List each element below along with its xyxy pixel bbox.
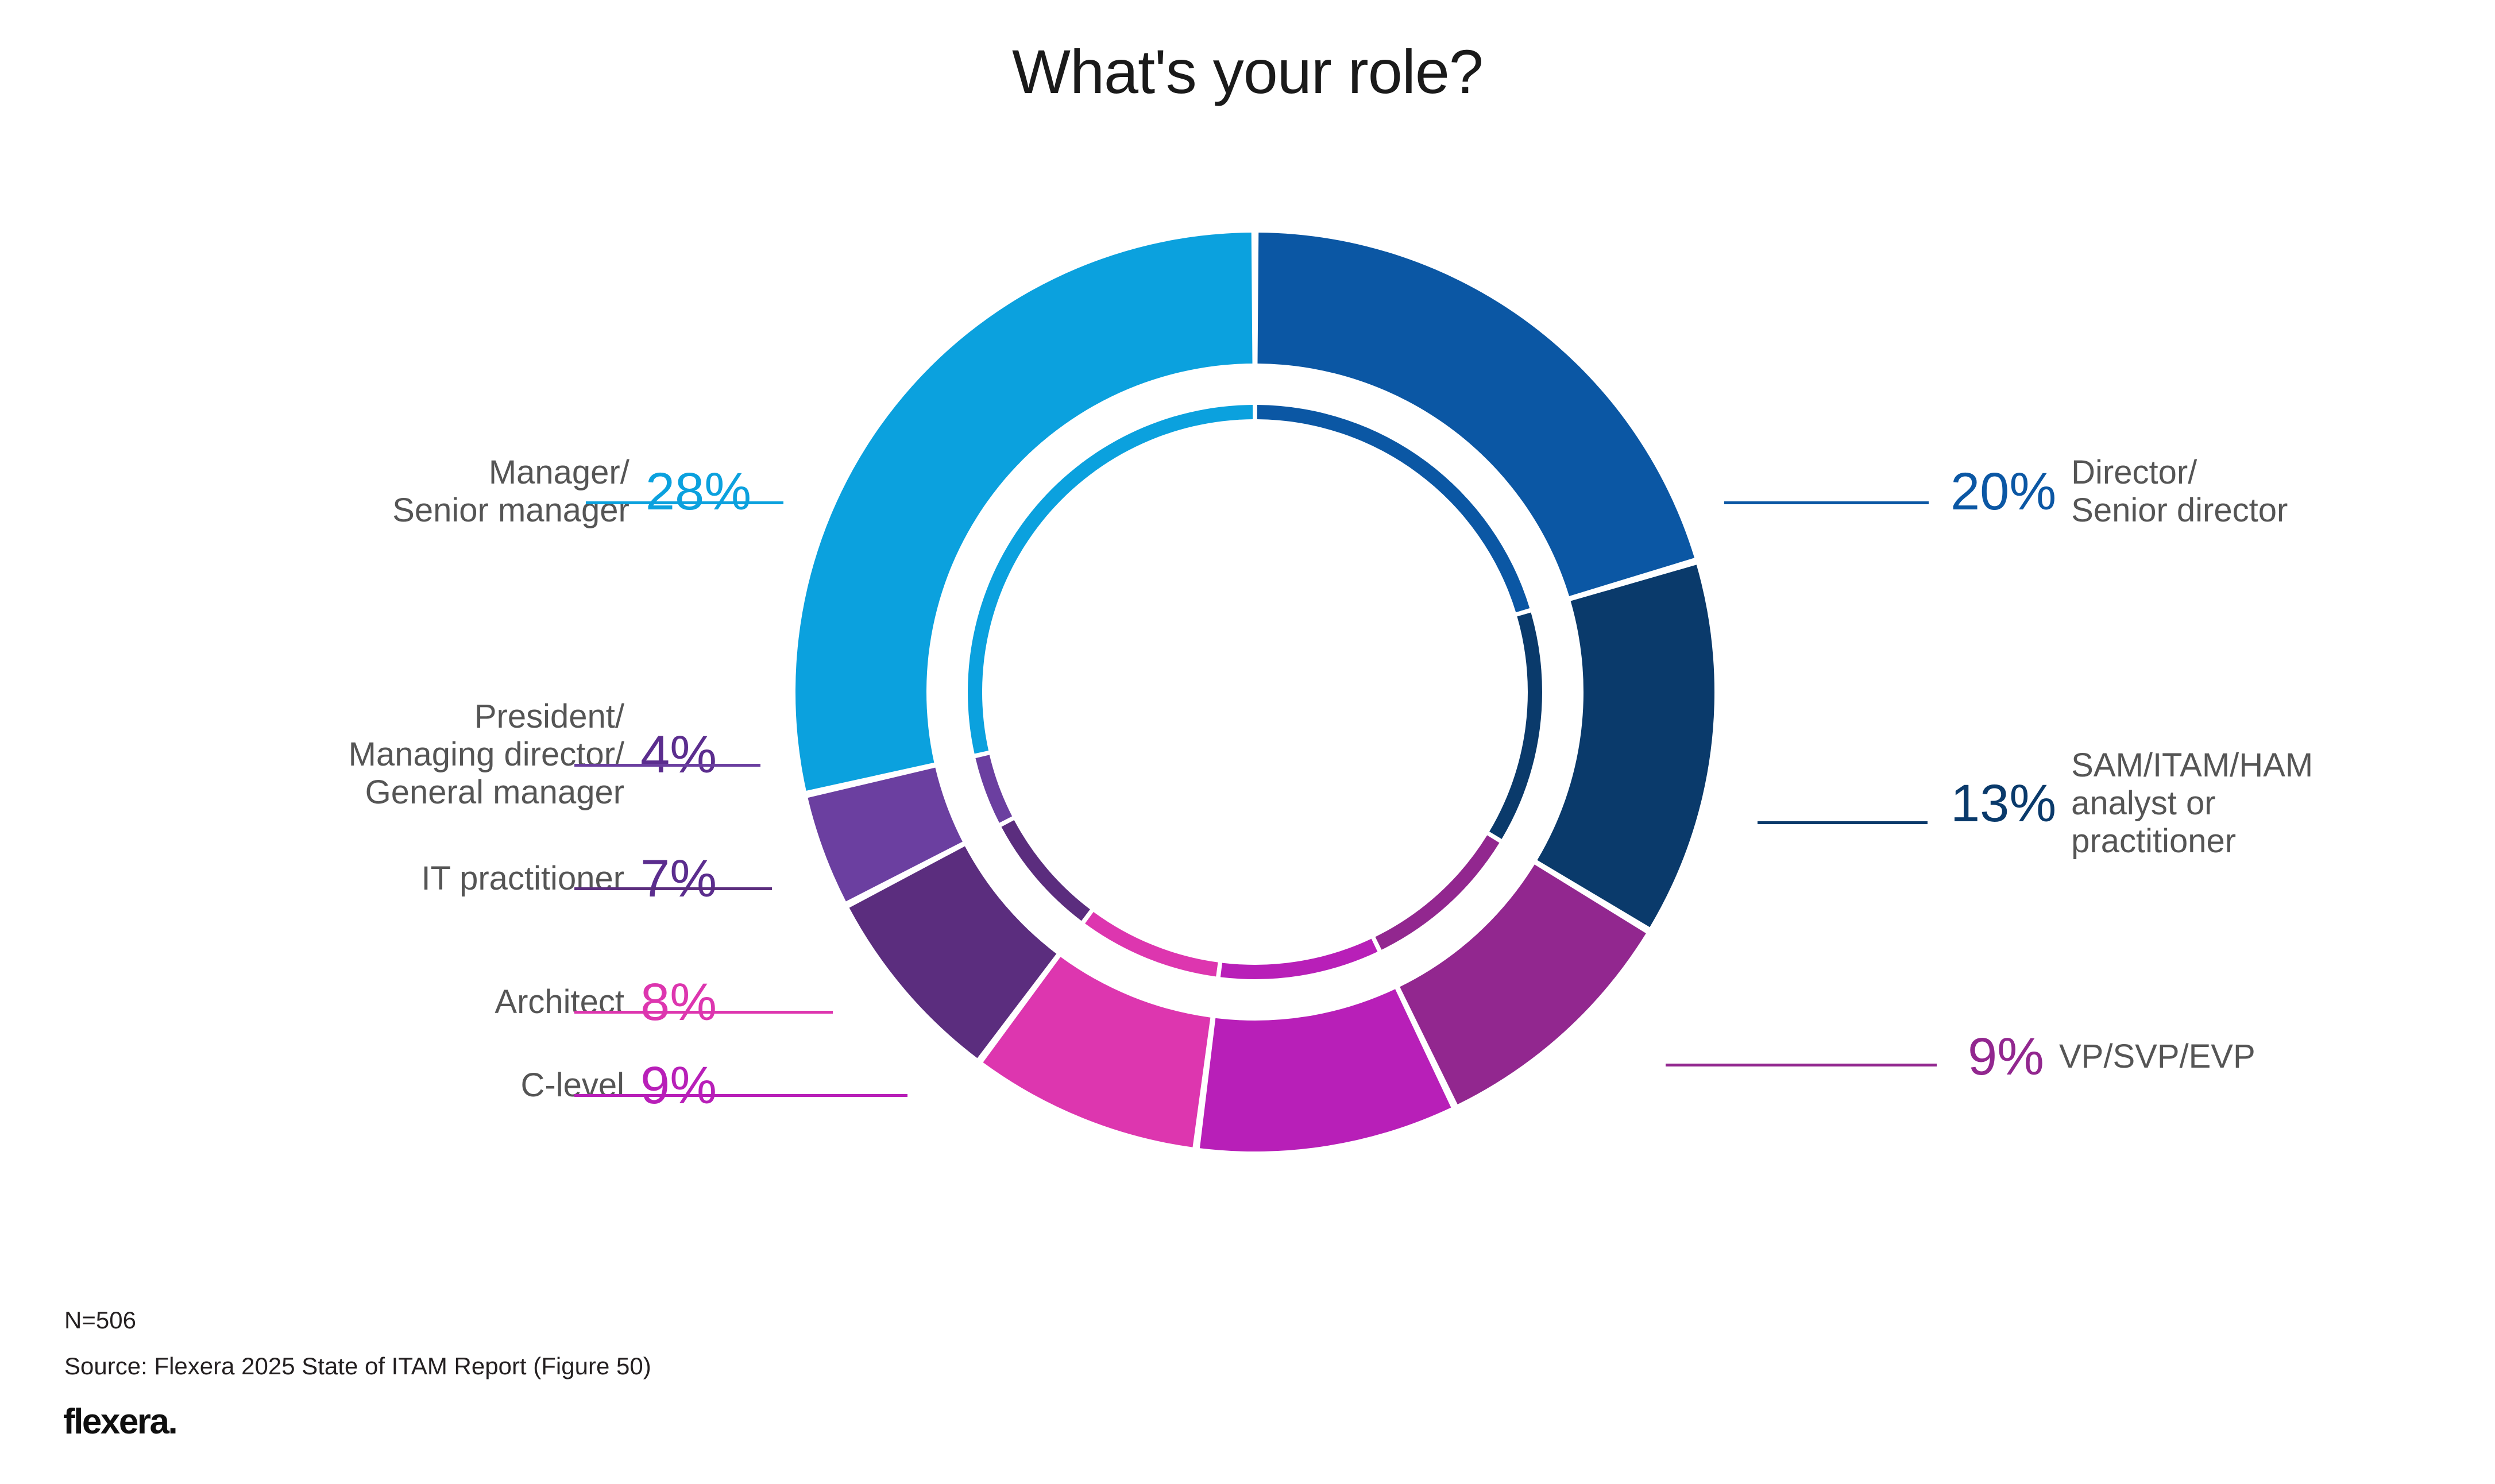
callout-clevel-label: C-level (521, 1066, 625, 1104)
callout-president-label: President/ Managing director/ General ma… (349, 698, 624, 811)
inner-ring-slice (975, 755, 1012, 822)
inner-ring-slice (1489, 613, 1542, 839)
callout-clevel-value: 9% (640, 1060, 717, 1111)
outer-ring (795, 233, 1714, 1151)
callout-president-value: 4% (640, 729, 717, 780)
callout-director-label: Director/ Senior director (2071, 454, 2288, 530)
callout-clevel: C-level 9% (521, 1060, 732, 1111)
callout-manager-value: 28% (646, 466, 751, 517)
leader-line-president (574, 764, 760, 767)
inner-ring-slice (1002, 820, 1090, 921)
leader-line-manager (586, 501, 783, 504)
callout-director-value: 20% (1951, 466, 2056, 517)
leader-line-architect (574, 1011, 833, 1014)
callout-sam: 13% SAM/ITAM/HAM analyst or practitioner (1936, 747, 2313, 860)
donut-slice[interactable] (1537, 565, 1714, 927)
chart-canvas: What's your role? Manager/ Senior manage… (0, 0, 2495, 1484)
callout-architect-value: 8% (640, 976, 717, 1028)
donut-chart (764, 207, 1775, 1218)
sample-size-note: N=506 (64, 1307, 136, 1334)
flexera-logo-text: flexera (63, 1402, 168, 1442)
callout-manager: Manager/ Senior manager 28% (392, 454, 766, 530)
callout-sam-label: SAM/ITAM/HAM analyst or practitioner (2071, 747, 2313, 860)
flexera-logo: flexera. (63, 1401, 176, 1442)
callout-architect-label: Architect (495, 983, 624, 1021)
callout-director: 20% Director/ Senior director (1936, 454, 2288, 530)
callout-president: President/ Managing director/ General ma… (349, 698, 732, 811)
inner-ring (968, 405, 1542, 979)
donut-slice[interactable] (795, 233, 1253, 791)
callout-vp-value: 9% (1968, 1031, 2044, 1083)
leader-line-director (1724, 501, 1929, 504)
inner-ring-slice (1085, 912, 1218, 976)
callout-it-practitioner-label: IT practitioner (422, 860, 625, 898)
callout-it-practitioner-value: 7% (640, 853, 717, 905)
callout-it-practitioner: IT practitioner 7% (422, 853, 732, 905)
page-title: What's your role? (0, 36, 2495, 107)
callout-architect: Architect 8% (495, 976, 732, 1028)
leader-line-clevel (574, 1094, 907, 1097)
leader-line-it-practitioner (574, 887, 772, 890)
callout-vp: 9% VP/SVP/EVP (1953, 1031, 2255, 1083)
leader-line-sam (1758, 821, 1928, 824)
flexera-logo-dot: . (168, 1402, 176, 1442)
source-note: Source: Flexera 2025 State of ITAM Repor… (64, 1352, 651, 1380)
callout-vp-label: VP/SVP/EVP (2059, 1038, 2255, 1076)
callout-sam-value: 13% (1951, 778, 2056, 829)
callout-manager-label: Manager/ Senior manager (392, 454, 629, 530)
inner-ring-slice (1221, 939, 1377, 979)
leader-line-vp (1666, 1064, 1937, 1066)
